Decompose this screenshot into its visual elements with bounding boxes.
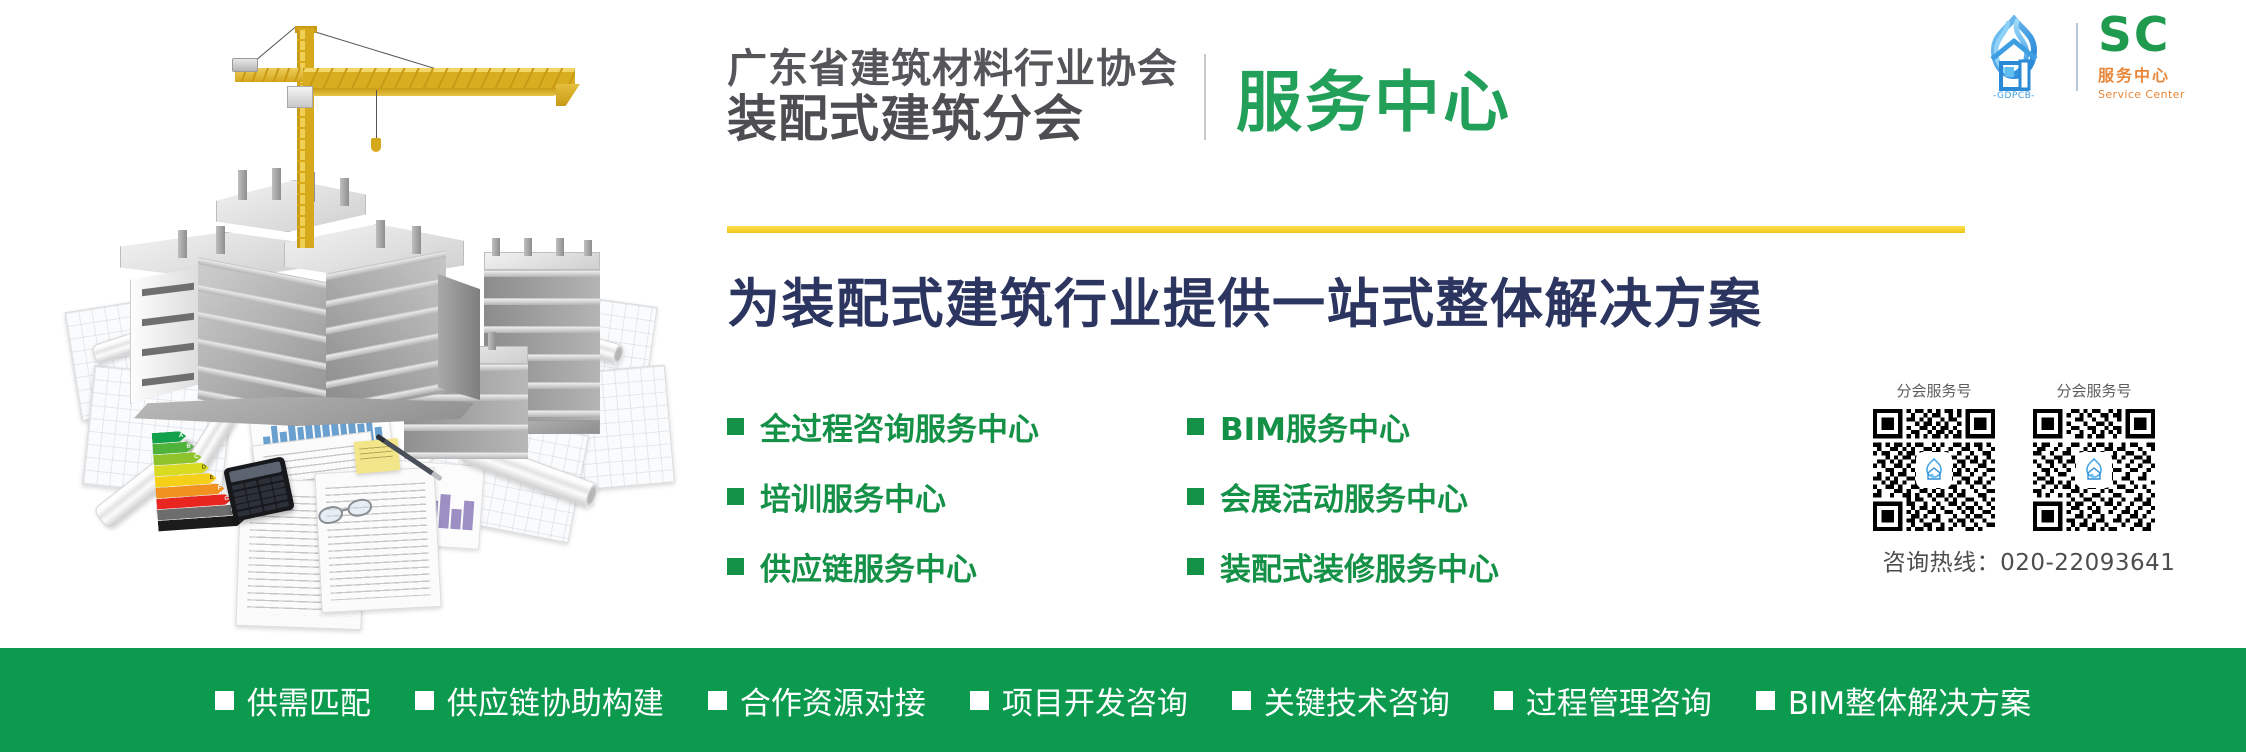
qr-caption: 分会服务号 bbox=[2029, 380, 2159, 401]
brand-logo[interactable]: -GDPCB- SC 服务中心 Service Center bbox=[1972, 14, 2185, 101]
brand-english-text: Service Center bbox=[2098, 88, 2185, 101]
brand-divider bbox=[2076, 23, 2078, 91]
footer-item[interactable]: BIM整体解决方案 bbox=[1756, 678, 2031, 723]
service-column-right: BIM服务中心 会展活动服务中心 装配式装修服务中心 bbox=[1187, 404, 1499, 589]
service-center-heading: 服务中心 bbox=[1236, 48, 1512, 146]
association-line2: 装配式建筑分会 bbox=[727, 93, 1178, 146]
brand-chinese-text: 服务中心 bbox=[2098, 62, 2170, 86]
association-header: 广东省建筑材料行业协会 装配式建筑分会 服务中心 bbox=[727, 48, 1512, 146]
footer-item-label: 合作资源对接 bbox=[740, 678, 926, 723]
footer-item-label: 供需匹配 bbox=[247, 678, 371, 723]
square-bullet-icon bbox=[1187, 418, 1204, 435]
footer-item[interactable]: 过程管理咨询 bbox=[1494, 678, 1712, 723]
service-item-label: 供应链服务中心 bbox=[760, 544, 977, 589]
service-item[interactable]: 培训服务中心 bbox=[727, 474, 1039, 519]
footer-item-label: 供应链协助构建 bbox=[447, 678, 664, 723]
hotline-text: 咨询热线：020-22093641 bbox=[1869, 543, 2189, 577]
gdpcb-flame-house-icon: -GDPCB- bbox=[1972, 15, 2056, 99]
brand-wordmark: SC 服务中心 Service Center bbox=[2098, 14, 2185, 101]
footer-item[interactable]: 关键技术咨询 bbox=[1232, 678, 1450, 723]
footer-item-label: 过程管理咨询 bbox=[1526, 678, 1712, 723]
square-bullet-icon bbox=[1756, 691, 1775, 710]
service-item[interactable]: BIM服务中心 bbox=[1187, 404, 1499, 449]
service-item-label: 会展活动服务中心 bbox=[1220, 474, 1468, 519]
qr-embedded-logo-icon bbox=[2078, 454, 2110, 486]
service-item-label: BIM服务中心 bbox=[1220, 404, 1410, 449]
footer-item-label: 关键技术咨询 bbox=[1264, 678, 1450, 723]
service-item[interactable]: 全过程咨询服务中心 bbox=[727, 404, 1039, 449]
footer-item[interactable]: 供需匹配 bbox=[215, 678, 371, 723]
service-column-left: 全过程咨询服务中心 培训服务中心 供应链服务中心 bbox=[727, 404, 1039, 589]
square-bullet-icon bbox=[708, 691, 727, 710]
square-bullet-icon bbox=[727, 558, 744, 575]
square-bullet-icon bbox=[415, 691, 434, 710]
footer-item-label: BIM整体解决方案 bbox=[1788, 678, 2031, 723]
association-names: 广东省建筑材料行业协会 装配式建筑分会 bbox=[727, 48, 1178, 146]
gdpcb-caption: -GDPCB- bbox=[1972, 91, 2056, 101]
form-document bbox=[314, 467, 441, 613]
square-bullet-icon bbox=[970, 691, 989, 710]
qr-row: 分会服务号 bbox=[1869, 380, 2189, 531]
header-divider bbox=[1204, 54, 1206, 140]
service-item[interactable]: 装配式装修服务中心 bbox=[1187, 544, 1499, 589]
footer-item[interactable]: 供应链协助构建 bbox=[415, 678, 664, 723]
square-bullet-icon bbox=[215, 691, 234, 710]
banner-root: A B C D E F G H I 广东省建筑材料行业协会 装配式建筑分会 服务… bbox=[0, 0, 2246, 752]
service-item-label: 培训服务中心 bbox=[760, 474, 946, 519]
qr-code-2[interactable] bbox=[2033, 409, 2155, 531]
qr-contact-block: 分会服务号 bbox=[1869, 380, 2189, 577]
qr-item: 分会服务号 bbox=[2029, 380, 2159, 531]
qr-caption: 分会服务号 bbox=[1869, 380, 1999, 401]
brand-sc-text: SC bbox=[2098, 14, 2170, 59]
construction-illustration: A B C D E F G H I bbox=[0, 0, 660, 645]
square-bullet-icon bbox=[1187, 558, 1204, 575]
footer-item-label: 项目开发咨询 bbox=[1002, 678, 1188, 723]
service-item-label: 装配式装修服务中心 bbox=[1220, 544, 1499, 589]
square-bullet-icon bbox=[1494, 691, 1513, 710]
footer-item[interactable]: 合作资源对接 bbox=[708, 678, 926, 723]
association-line1: 广东省建筑材料行业协会 bbox=[727, 48, 1178, 90]
qr-embedded-logo-icon bbox=[1918, 454, 1950, 486]
footer-bar: 供需匹配 供应链协助构建 合作资源对接 项目开发咨询 关键技术咨询 过程管理咨询… bbox=[0, 648, 2246, 752]
gold-divider-rule bbox=[727, 226, 1965, 233]
qr-item: 分会服务号 bbox=[1869, 380, 1999, 531]
square-bullet-icon bbox=[1232, 691, 1251, 710]
service-item-label: 全过程咨询服务中心 bbox=[760, 404, 1039, 449]
qr-code-1[interactable] bbox=[1873, 409, 1995, 531]
footer-item[interactable]: 项目开发咨询 bbox=[970, 678, 1188, 723]
tagline: 为装配式建筑行业提供一站式整体解决方案 bbox=[727, 262, 1763, 338]
square-bullet-icon bbox=[727, 418, 744, 435]
square-bullet-icon bbox=[727, 488, 744, 505]
service-item[interactable]: 会展活动服务中心 bbox=[1187, 474, 1499, 519]
square-bullet-icon bbox=[1187, 488, 1204, 505]
service-item[interactable]: 供应链服务中心 bbox=[727, 544, 1039, 589]
service-center-lists: 全过程咨询服务中心 培训服务中心 供应链服务中心 BIM服务中心 会展活动服务中… bbox=[727, 404, 1499, 589]
